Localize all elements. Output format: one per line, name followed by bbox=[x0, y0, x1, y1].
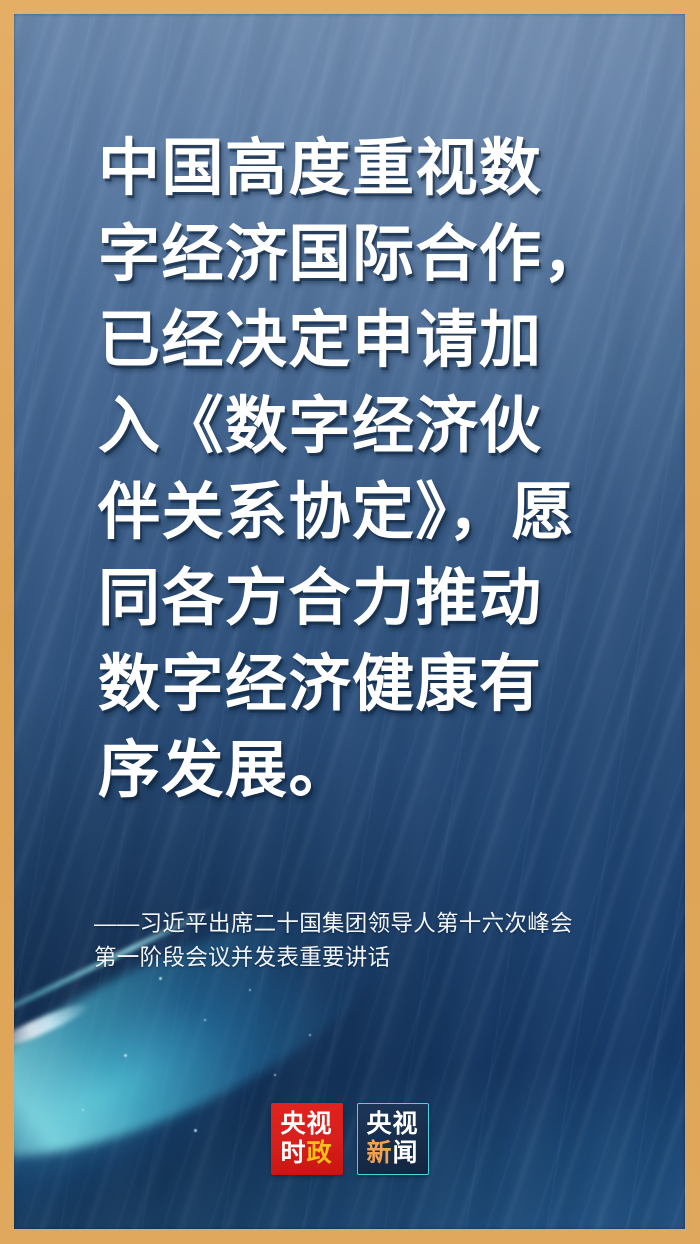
logo-char-wen: 闻 bbox=[393, 1139, 419, 1167]
attribution-source: ——习近平出席二十国集团领导人第十六次峰会 第一阶段会议并发表重要讲话 bbox=[94, 907, 642, 975]
headline-line: 同各方合力推动 bbox=[98, 556, 643, 642]
spark-particle bbox=[159, 977, 162, 980]
headline-line: 序发展。 bbox=[98, 728, 643, 814]
cctv-shizheng-logo[interactable]: 央视 时政 bbox=[271, 1103, 343, 1175]
poster-frame: 中国高度重视数 字经济国际合作， 已经决定申请加 入《数字经济伙 伴关系协定》，… bbox=[0, 0, 700, 1244]
cctv-xinwen-logo[interactable]: 央视 新闻 bbox=[357, 1103, 429, 1175]
spark-particle bbox=[204, 1019, 206, 1021]
headline-line: 伴关系协定》，愿 bbox=[98, 470, 643, 556]
logo-line-top: 央视 bbox=[366, 1110, 418, 1139]
headline-quote: 中国高度重视数 字经济国际合作， 已经决定申请加 入《数字经济伙 伴关系协定》，… bbox=[98, 126, 643, 814]
poster-canvas: 中国高度重视数 字经济国际合作， 已经决定申请加 入《数字经济伙 伴关系协定》，… bbox=[14, 14, 685, 1229]
spark-particle bbox=[124, 1054, 127, 1057]
logo-char-zheng: 政 bbox=[307, 1139, 333, 1167]
headline-line: 已经决定申请加 bbox=[98, 298, 643, 384]
spark-particle bbox=[249, 989, 251, 991]
spark-particle bbox=[309, 1034, 311, 1036]
logo-char-xin: 新 bbox=[366, 1139, 392, 1167]
headline-line: 数字经济健康有 bbox=[98, 642, 643, 728]
attribution-line: 第一阶段会议并发表重要讲话 bbox=[94, 941, 642, 975]
spark-particle bbox=[274, 1074, 276, 1076]
headline-line: 字经济国际合作， bbox=[98, 212, 643, 298]
headline-line: 中国高度重视数 bbox=[98, 126, 643, 212]
logo-char-shi: 时 bbox=[280, 1139, 306, 1167]
comet-core bbox=[14, 997, 92, 1056]
logo-line-bottom: 时政 bbox=[280, 1139, 332, 1168]
logo-row: 央视 时政 央视 新闻 bbox=[14, 1103, 685, 1175]
logo-line-top: 央视 bbox=[280, 1110, 332, 1139]
logo-line-bottom: 新闻 bbox=[366, 1139, 418, 1168]
headline-line: 入《数字经济伙 bbox=[98, 384, 643, 470]
attribution-line: ——习近平出席二十国集团领导人第十六次峰会 bbox=[94, 907, 642, 941]
